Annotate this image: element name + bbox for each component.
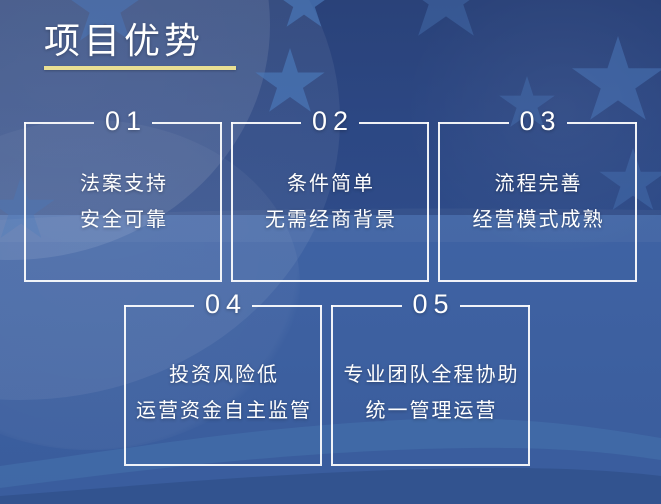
card-line-2: 安全可靠 [26,202,220,238]
slide-canvas: 项目优势 01 法案支持 安全可靠 02 条件简单 无需经商背景 [0,0,661,504]
card-number: 01 [26,101,220,141]
card-number: 03 [440,101,635,141]
card-number: 05 [333,284,528,324]
advantage-card-04[interactable]: 04 投资风险低 运营资金自主监管 [124,305,322,466]
page-title: 项目优势 [44,18,236,64]
card-body: 法案支持 安全可靠 [26,166,220,238]
card-line-2: 运营资金自主监管 [126,393,320,429]
card-number: 04 [126,284,320,324]
advantage-card-03[interactable]: 03 流程完善 经营模式成熟 [438,122,637,282]
card-number: 02 [233,101,427,141]
card-line-2: 无需经商背景 [233,202,427,238]
advantage-card-01[interactable]: 01 法案支持 安全可靠 [24,122,222,282]
card-line-2: 统一管理运营 [333,393,528,429]
card-line-1: 法案支持 [26,166,220,202]
advantage-card-02[interactable]: 02 条件简单 无需经商背景 [231,122,429,282]
card-body: 流程完善 经营模式成熟 [440,166,635,238]
card-line-1: 流程完善 [440,166,635,202]
card-body: 条件简单 无需经商背景 [233,166,427,238]
card-body: 专业团队全程协助 统一管理运营 [333,357,528,429]
card-line-1: 专业团队全程协助 [333,357,528,393]
card-line-1: 投资风险低 [126,357,320,393]
card-line-1: 条件简单 [233,166,427,202]
page-title-group: 项目优势 [44,18,236,70]
card-body: 投资风险低 运营资金自主监管 [126,357,320,429]
advantage-card-05[interactable]: 05 专业团队全程协助 统一管理运营 [331,305,530,466]
title-underline [44,66,236,70]
card-line-2: 经营模式成熟 [440,202,635,238]
